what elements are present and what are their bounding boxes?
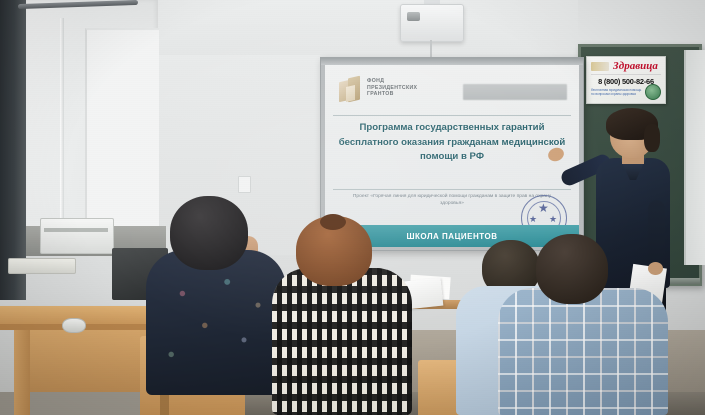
attendee-plaid-shirt — [498, 288, 668, 415]
chair-leg — [160, 392, 169, 415]
presidential-grants-fund-logo-icon — [339, 77, 361, 103]
wall-whiteboard — [85, 28, 159, 245]
slide-title: Программа государственных гарантий беспл… — [335, 121, 569, 165]
wall-panel-edge — [60, 18, 64, 246]
green-seal-icon — [645, 84, 661, 100]
presenter-arm — [648, 200, 665, 270]
printer-paper-slot — [44, 228, 108, 232]
screen-top-bar — [321, 58, 583, 65]
slide-header: ФОНД ПРЕЗИДЕНТСКИХ ГРАНТОВ — [325, 65, 579, 112]
desk-leg — [14, 330, 30, 415]
window-curtain — [0, 0, 26, 300]
wall-switch[interactable] — [238, 176, 251, 193]
slide-divider-bottom — [333, 189, 571, 190]
poster-brand-name: Здравица — [613, 60, 661, 73]
foundation-name-text: ФОНД ПРЕЗИДЕНТСКИХ ГРАНТОВ — [367, 78, 447, 98]
presentation-slide: ФОНД ПРЕЗИДЕНТСКИХ ГРАНТОВ Программа гос… — [325, 65, 579, 247]
projection-screen: ФОНД ПРЕЗИДЕНТСКИХ ГРАНТОВ Программа гос… — [320, 57, 584, 251]
slide-divider-top — [333, 115, 571, 116]
upper-wall — [158, 0, 578, 60]
classroom-presentation-photo: Здравица 8 (800) 500-82-66 бесплатная юр… — [0, 0, 705, 415]
slide-banner-text: ШКОЛА ПАЦИЕНТОВ — [407, 232, 498, 241]
attendee-plaid-head — [536, 234, 608, 304]
poster-partner-logo-icon — [591, 62, 609, 71]
attendee-chevron-hair — [320, 214, 346, 230]
presenter-hand-holding-papers — [648, 262, 663, 275]
ceiling-projector — [400, 4, 464, 42]
projector-lens-icon — [407, 12, 420, 21]
hotline-poster: Здравица 8 (800) 500-82-66 бесплатная юр… — [586, 56, 666, 104]
right-wall-board — [684, 50, 705, 265]
attendee-floral-blouse — [146, 250, 286, 395]
attendee-floral-head — [170, 196, 248, 270]
attendee-chevron-pattern — [272, 268, 412, 415]
poster-subtext: бесплатная юридическая помощь по вопроса… — [591, 88, 643, 96]
office-printer — [40, 218, 114, 254]
presenter-hair-side — [644, 124, 660, 152]
poster-divider — [591, 74, 661, 75]
redacted-bar — [463, 84, 567, 100]
computer-mouse[interactable] — [62, 318, 86, 333]
